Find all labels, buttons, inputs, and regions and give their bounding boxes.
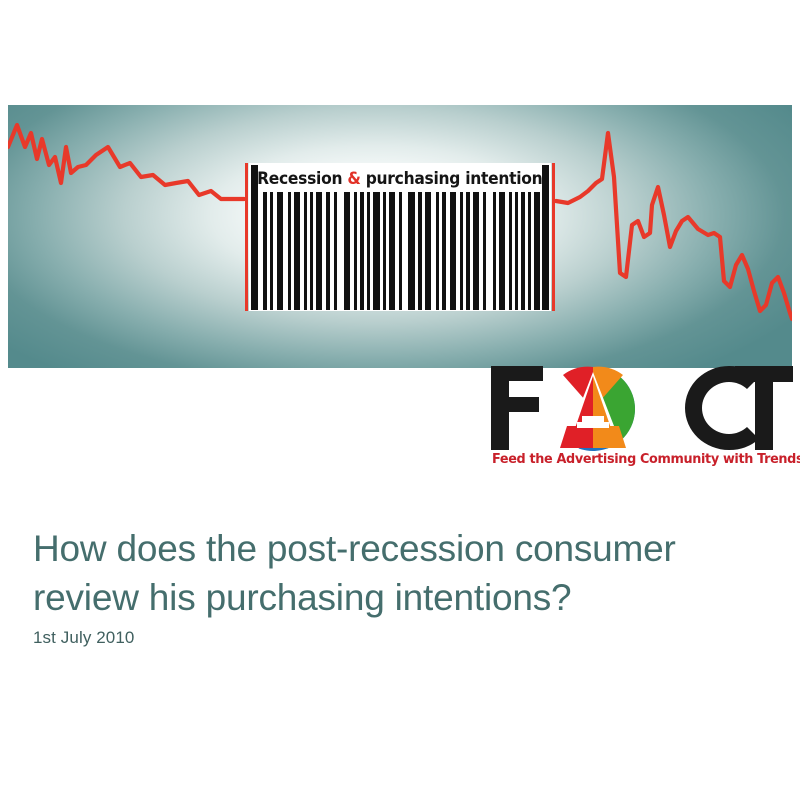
barcode-title-ampersand: & bbox=[348, 169, 361, 188]
barcode-bars bbox=[249, 192, 551, 310]
page-title-line-2: review his purchasing intentions? bbox=[33, 573, 753, 622]
logo-letter-a-circle bbox=[551, 364, 647, 452]
barcode-title: Recession & purchasing intention bbox=[249, 165, 551, 191]
page-title: How does the post-recession consumer rev… bbox=[33, 524, 753, 622]
recession-banner: Recession & purchasing intention bbox=[8, 105, 792, 368]
logo-letter-f bbox=[491, 366, 543, 450]
presentation-date: 1st July 2010 bbox=[33, 628, 134, 648]
barcode-title-suffix: purchasing intention bbox=[361, 169, 543, 188]
trend-line-left bbox=[8, 125, 244, 199]
page-title-line-1: How does the post-recession consumer bbox=[33, 524, 753, 573]
fact-logo: Feed the Advertising Community with Tren… bbox=[489, 364, 795, 476]
fact-logo-tagline: Feed the Advertising Community with Tren… bbox=[492, 452, 783, 467]
barcode-graphic: Recession & purchasing intention bbox=[244, 163, 556, 311]
barcode-body: Recession & purchasing intention bbox=[249, 163, 551, 311]
barcode-title-prefix: Recession bbox=[257, 169, 347, 188]
barcode-rail-right bbox=[552, 163, 555, 311]
trend-line-right bbox=[556, 133, 792, 319]
barcode-rail-left bbox=[245, 163, 248, 311]
fact-logo-mark bbox=[489, 364, 795, 452]
